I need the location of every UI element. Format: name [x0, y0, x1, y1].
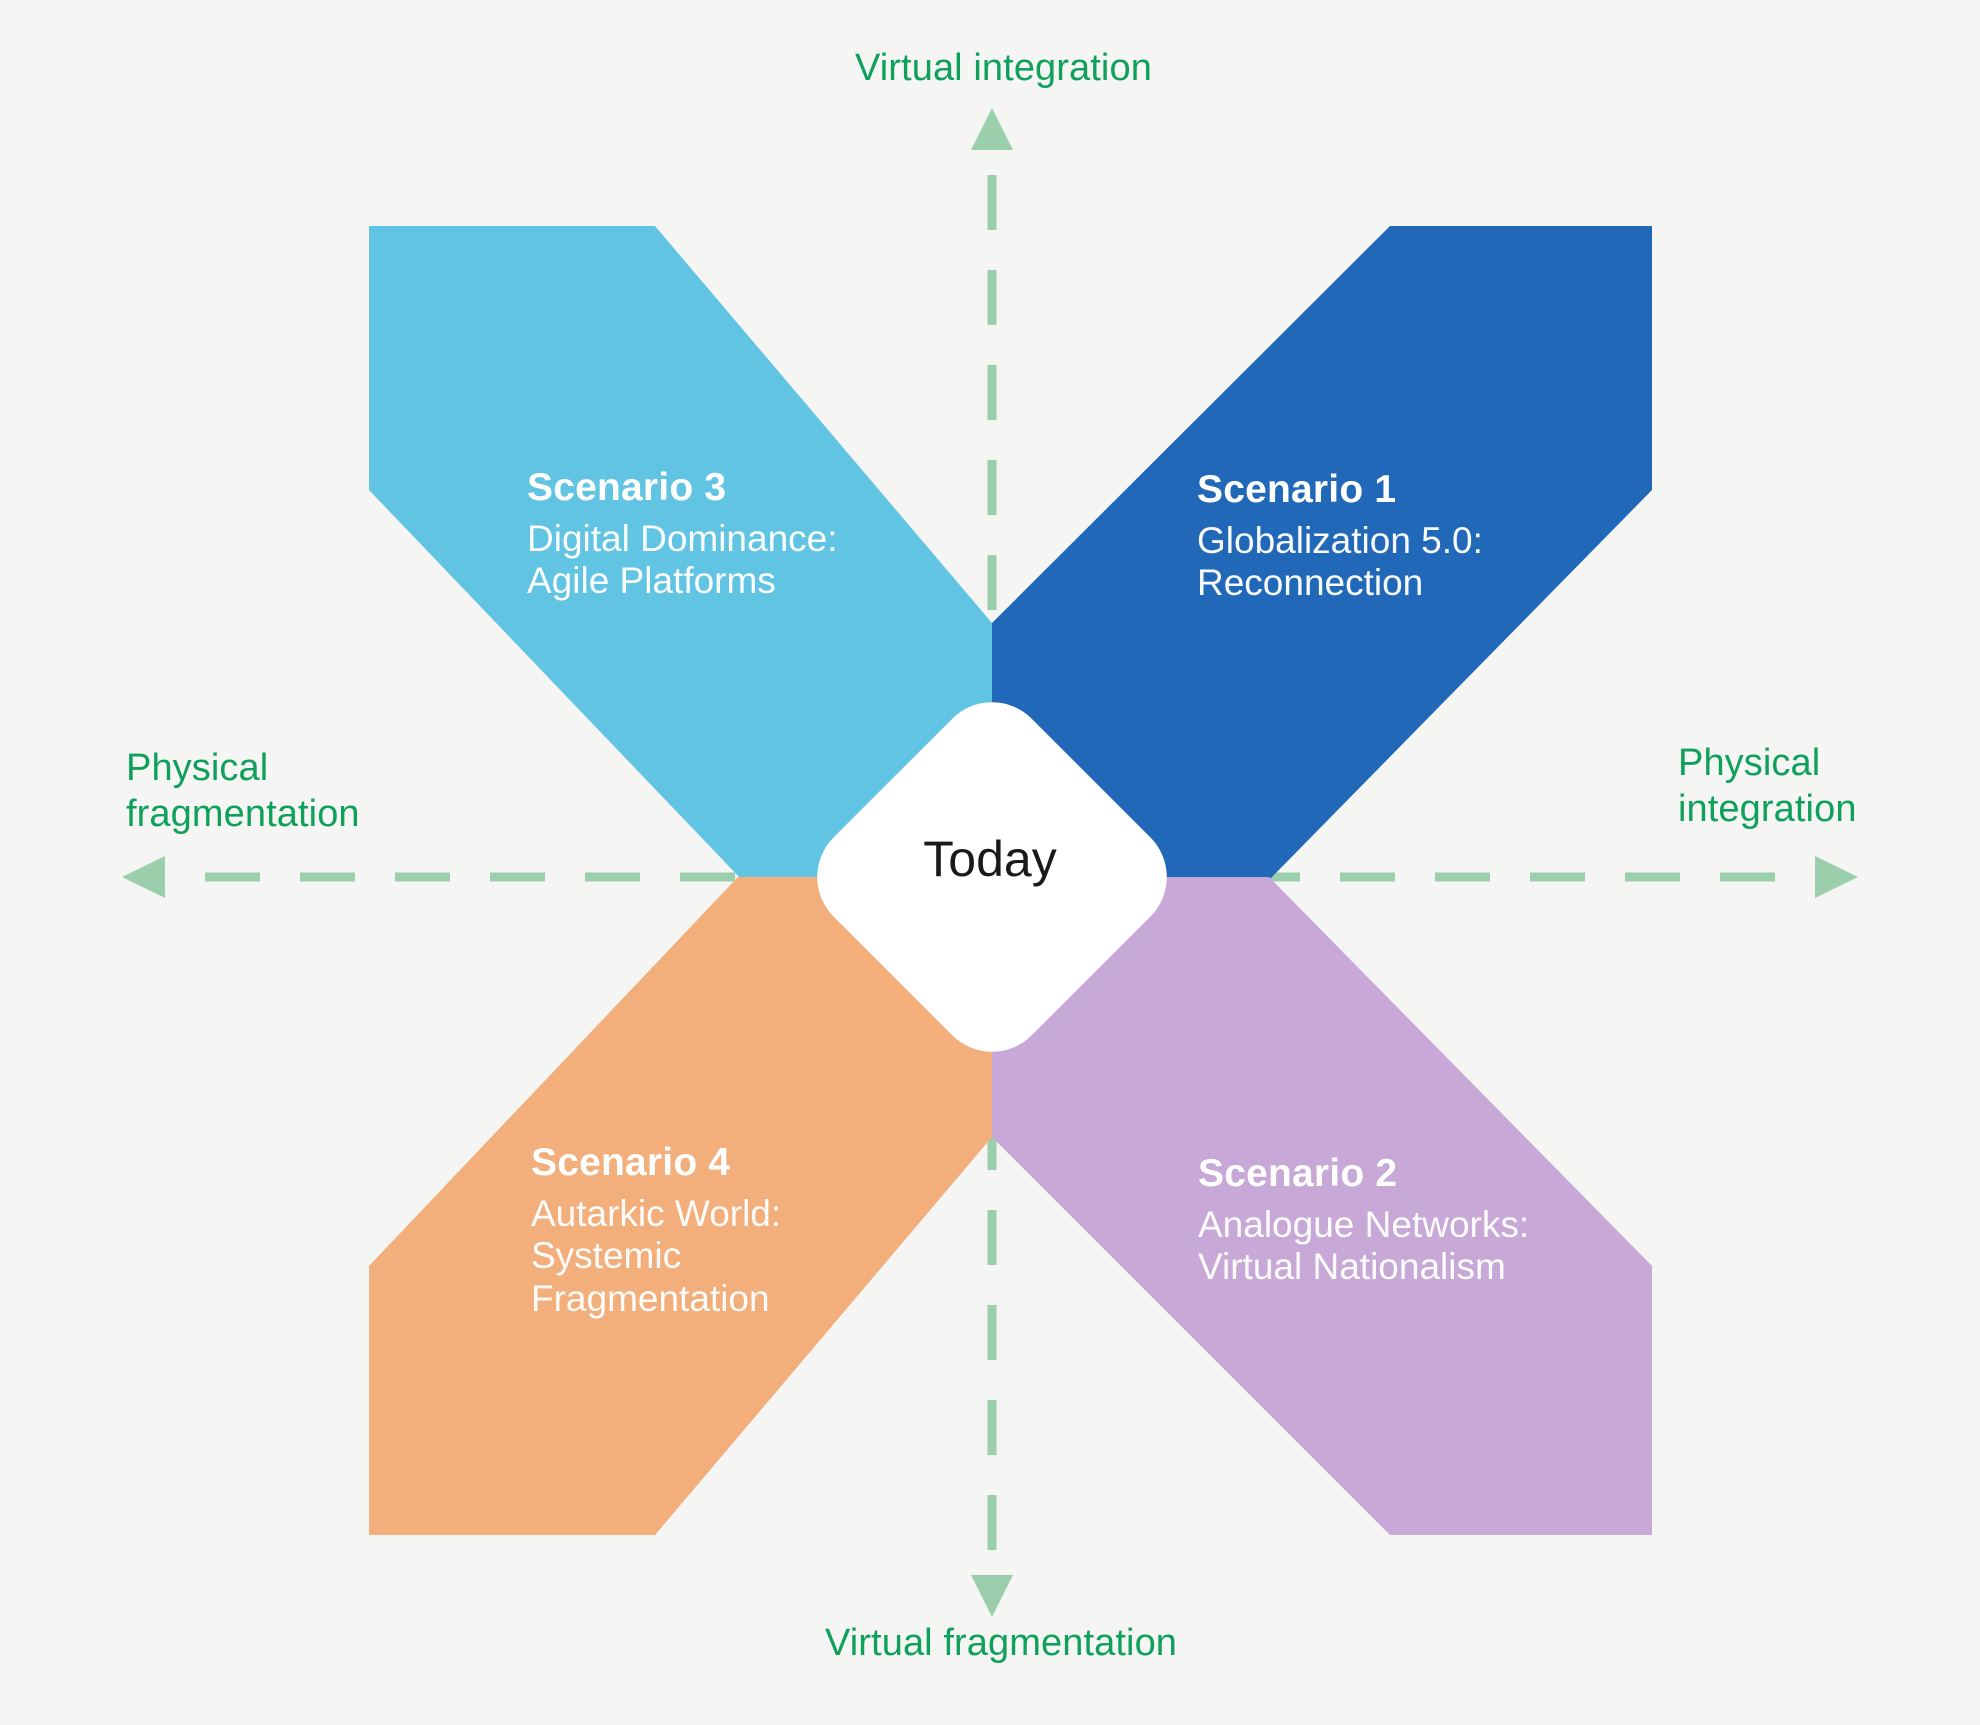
- axis-label-virtual-fragmentation: Virtual fragmentation: [825, 1620, 1177, 1666]
- axis-label-virtual-integration: Virtual integration: [855, 45, 1152, 91]
- axis-arrowhead-down: [971, 1575, 1013, 1617]
- quadrant-subtitle-scenario-4: Autarkic World: Systemic Fragmentation: [531, 1193, 781, 1321]
- quadrant-title-scenario-1: Scenario 1: [1197, 468, 1483, 513]
- quadrant-subtitle-scenario-2: Analogue Networks: Virtual Nationalism: [1198, 1204, 1529, 1289]
- quadrant-label-scenario-1: Scenario 1 Globalization 5.0: Reconnecti…: [1197, 468, 1483, 605]
- quadrant-subtitle-scenario-3: Digital Dominance: Agile Platforms: [527, 518, 838, 603]
- quadrant-title-scenario-2: Scenario 2: [1198, 1152, 1529, 1197]
- quadrant-title-scenario-4: Scenario 4: [531, 1141, 781, 1186]
- quadrant-subtitle-scenario-1: Globalization 5.0: Reconnection: [1197, 520, 1483, 605]
- axis-label-physical-fragmentation: Physical fragmentation: [126, 745, 360, 838]
- quadrant-label-scenario-4: Scenario 4 Autarkic World: Systemic Frag…: [531, 1141, 781, 1320]
- quadrant-label-scenario-2: Scenario 2 Analogue Networks: Virtual Na…: [1198, 1152, 1529, 1289]
- axis-label-physical-integration: Physical integration: [1678, 740, 1857, 833]
- quadrant-title-scenario-3: Scenario 3: [527, 466, 838, 511]
- quadrant-label-scenario-3: Scenario 3 Digital Dominance: Agile Plat…: [527, 466, 838, 603]
- center-today-label: Today: [0, 830, 1980, 888]
- axis-arrowhead-up: [971, 108, 1013, 150]
- scenario-matrix-diagram: Virtual integration Virtual fragmentatio…: [0, 0, 1980, 1725]
